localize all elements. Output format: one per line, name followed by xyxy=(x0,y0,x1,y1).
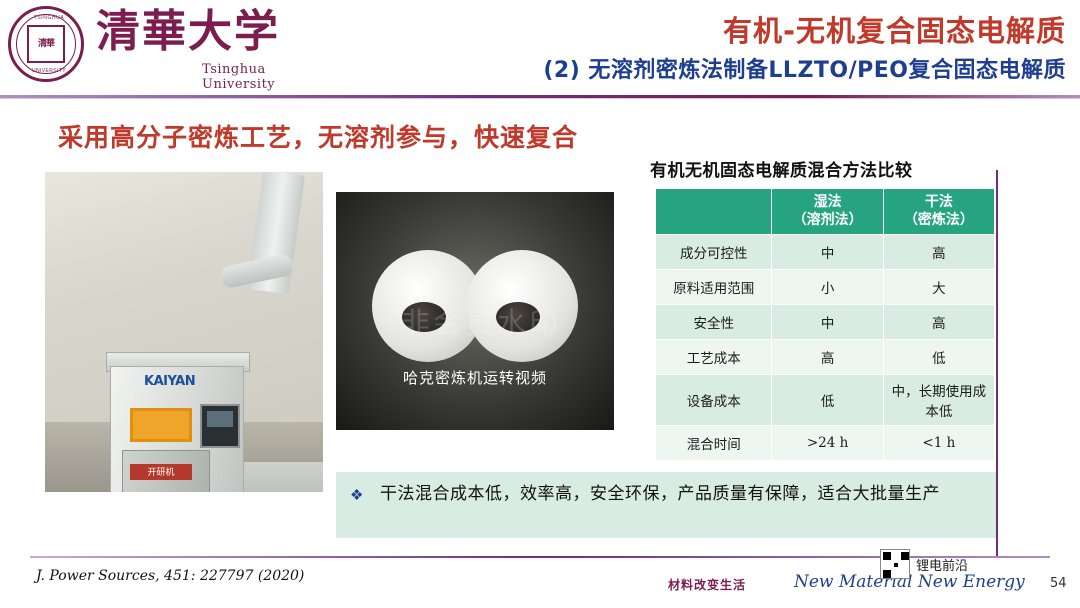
tsinghua-logo: TSINGHUA 清華 UNIVERSITY 清華大学 Tsinghua Uni… xyxy=(6,4,286,86)
row-dry-value: 中，长期使用成本低 xyxy=(883,375,994,426)
photo-machine: KAIYAN 开研机 xyxy=(100,352,250,492)
seal-arc-top-text: TSINGHUA xyxy=(11,15,87,21)
row-dry-value: 高 xyxy=(883,235,994,270)
machine-orange-guard xyxy=(130,408,192,442)
comparison-table-title: 有机无机固态电解质混合方法比较 xyxy=(650,156,913,181)
table-row: 成分可控性 中 高 xyxy=(656,235,995,270)
slide-header: TSINGHUA 清華 UNIVERSITY 清華大学 Tsinghua Uni… xyxy=(0,0,1080,96)
machine-panel-screen xyxy=(207,411,233,427)
conclusion-callout: ❖ 干法混合成本低，效率高，安全环保，产品质量有保障，适合大批量生产 xyxy=(336,472,996,538)
table-header-wet-line1: 湿法 xyxy=(775,194,879,212)
comparison-table: 湿法 （溶剂法） 干法 （密炼法） 成分可控性 中 高 原料适用范围 小 大 安… xyxy=(655,188,995,461)
row-dry-value: 低 xyxy=(883,340,994,375)
university-name-cn: 清華大学 xyxy=(96,10,280,54)
table-row: 工艺成本 高 低 xyxy=(656,340,995,375)
row-dry-value: 大 xyxy=(883,270,994,305)
university-name-en: Tsinghua University xyxy=(202,62,286,92)
machine-name-plate: 开研机 xyxy=(130,464,192,480)
video-frame: 非会员水印 哈克密炼机运转视频 xyxy=(336,192,614,430)
row-wet-value: 中 xyxy=(772,305,883,340)
qr-code-icon xyxy=(880,549,910,579)
machine-brand-label: KAIYAN xyxy=(144,374,195,389)
table-row: 混合时间 >24 h <1 h xyxy=(656,426,995,461)
row-wet-value: 中 xyxy=(772,235,883,270)
seal-center-text: 清華 xyxy=(38,40,54,49)
video-watermark: 非会员水印 xyxy=(386,300,576,342)
diamond-bullet-icon: ❖ xyxy=(350,486,363,504)
mixer-video-thumbnail[interactable]: 非会员水印 哈克密炼机运转视频 xyxy=(336,192,614,430)
table-header-wet: 湿法 （溶剂法） xyxy=(772,189,883,235)
table-row: 原料适用范围 小 大 xyxy=(656,270,995,305)
row-wet-value: 小 xyxy=(772,270,883,305)
table-row: 安全性 中 高 xyxy=(656,305,995,340)
row-wet-value: >24 h xyxy=(772,426,883,461)
row-label: 安全性 xyxy=(656,305,772,340)
table-header-blank xyxy=(656,189,772,235)
table-header-dry-line1: 干法 xyxy=(887,194,991,212)
reference-citation: J. Power Sources, 451: 227797 (2020) xyxy=(36,568,304,584)
mixer-machine-photo: KAIYAN 开研机 xyxy=(45,172,323,492)
table-header-dry: 干法 （密炼法） xyxy=(883,189,994,235)
wechat-account-badge: 锂电前沿 xyxy=(880,546,1070,582)
row-label: 工艺成本 xyxy=(656,340,772,375)
row-label: 成分可控性 xyxy=(656,235,772,270)
header-divider-thin xyxy=(0,98,1080,99)
wechat-account-name: 锂电前沿 xyxy=(916,555,968,574)
row-wet-value: 高 xyxy=(772,340,883,375)
conclusion-text: 干法混合成本低，效率高，安全环保，产品质量有保障，适合大批量生产 xyxy=(380,482,982,508)
table-header-row: 湿法 （溶剂法） 干法 （密炼法） xyxy=(656,189,995,235)
row-dry-value: <1 h xyxy=(883,426,994,461)
right-vertical-rule xyxy=(996,170,998,558)
seal-arc-bottom-text: UNIVERSITY xyxy=(11,68,87,74)
video-caption: 哈克密炼机运转视频 xyxy=(336,367,614,388)
tsinghua-seal-icon: TSINGHUA 清華 UNIVERSITY xyxy=(8,6,84,82)
machine-control-panel xyxy=(200,404,240,448)
table-row: 设备成本 低 中，长期使用成本低 xyxy=(656,375,995,426)
table-header-dry-line2: （密炼法） xyxy=(887,212,991,230)
seal-inner: 清華 xyxy=(27,25,65,63)
slide-title-primary: 有机-无机复合固态电解质 xyxy=(723,8,1066,50)
section-subtitle: 采用高分子密炼工艺，无溶剂参与，快速复合 xyxy=(58,118,578,154)
table-header-wet-line2: （溶剂法） xyxy=(775,212,879,230)
row-label: 混合时间 xyxy=(656,426,772,461)
footer-slogan-cn: 材料改变生活 xyxy=(668,576,746,593)
row-label: 设备成本 xyxy=(656,375,772,426)
slide-title-secondary: (2) 无溶剂密炼法制备LLZTO/PEO复合固态电解质 xyxy=(543,52,1066,84)
row-dry-value: 高 xyxy=(883,305,994,340)
row-wet-value: 低 xyxy=(772,375,883,426)
row-label: 原料适用范围 xyxy=(656,270,772,305)
